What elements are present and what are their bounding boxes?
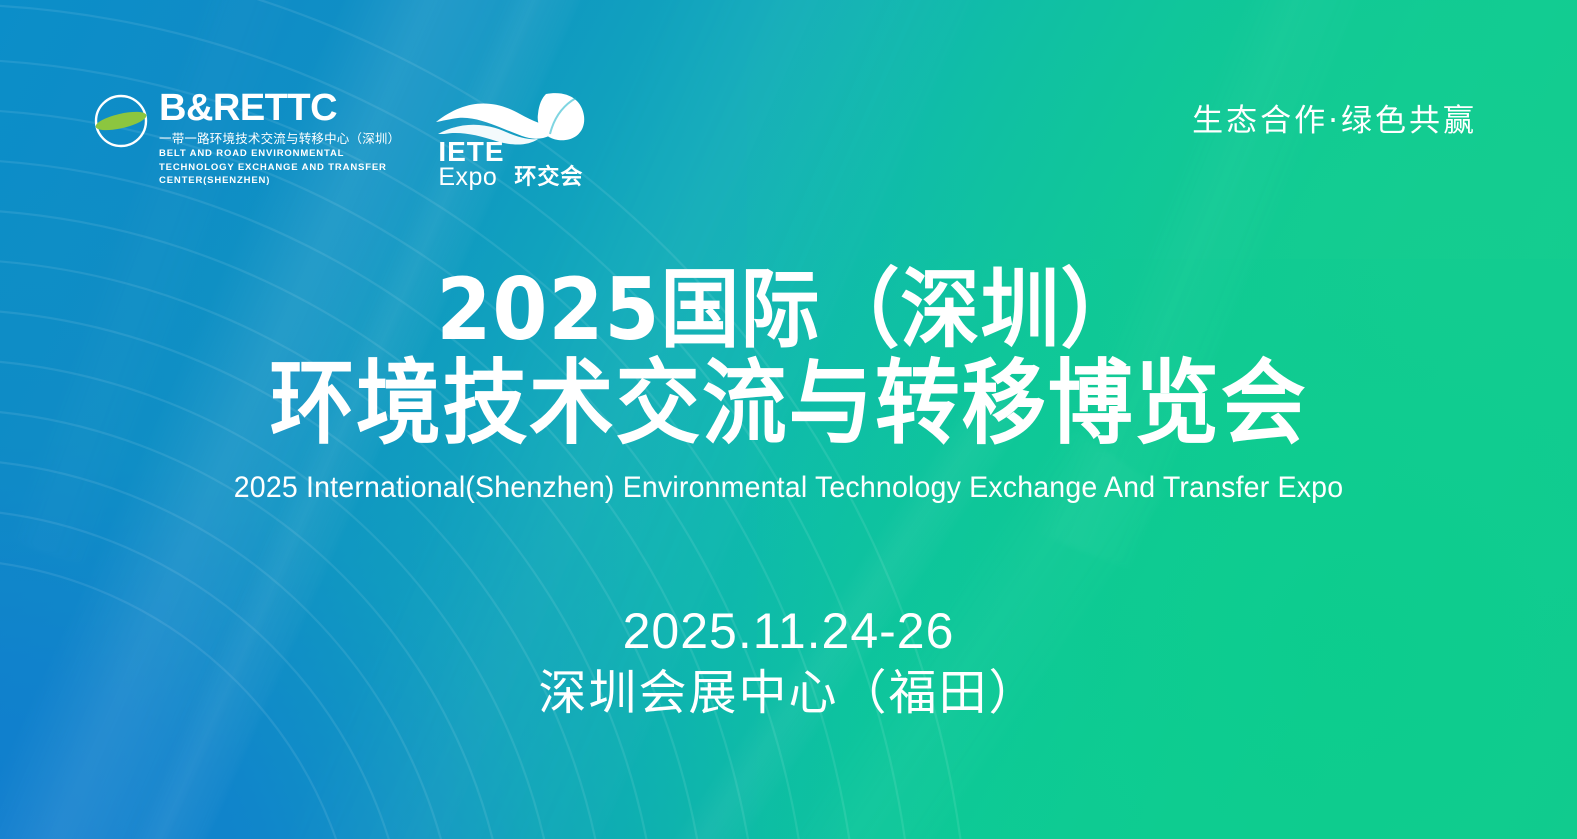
brettc-english-line-3: CENTER(SHENZHEN) [159,175,400,187]
title-line-1: 2025国际（深圳） [63,262,1514,358]
brettc-logo[interactable]: B&RETTC 一带一路环境技术交流与转移中心（深圳） BELT AND ROA… [92,88,400,187]
brettc-english-line-2: TECHNOLOGY EXCHANGE AND TRANSFER [159,162,400,174]
logo-group: B&RETTC 一带一路环境技术交流与转移中心（深圳） BELT AND ROA… [92,88,589,188]
brettc-english-line-1: BELT AND ROAD ENVIRONMENTAL [159,148,400,160]
title-english-subtitle: 2025 International(Shenzhen) Environment… [39,468,1537,508]
title-line-2: 环境技术交流与转移博览会 [63,354,1514,454]
iete-expo-logo[interactable]: IETE Expo 环交会 [434,88,589,188]
brettc-chinese-name: 一带一路环境技术交流与转移中心（深圳） [159,131,400,146]
event-date: 2025.11.24-26 [0,600,1577,662]
headline-block: 2025国际（深圳） 环境技术交流与转移博览会 2025 Internation… [0,262,1577,508]
iete-chinese-short: 环交会 [514,165,583,191]
event-venue: 深圳会展中心（福田） [0,662,1577,724]
iete-expo-word: Expo [438,163,497,191]
globe-icon [92,92,150,150]
event-banner: B&RETTC 一带一路环境技术交流与转移中心（深圳） BELT AND ROA… [0,0,1577,839]
brettc-wordmark: B&RETTC [159,88,400,128]
event-details-block: 2025.11.24-26 深圳会展中心（福田） [0,600,1577,724]
slogan-text: 生态合作·绿色共赢 [1192,102,1477,140]
